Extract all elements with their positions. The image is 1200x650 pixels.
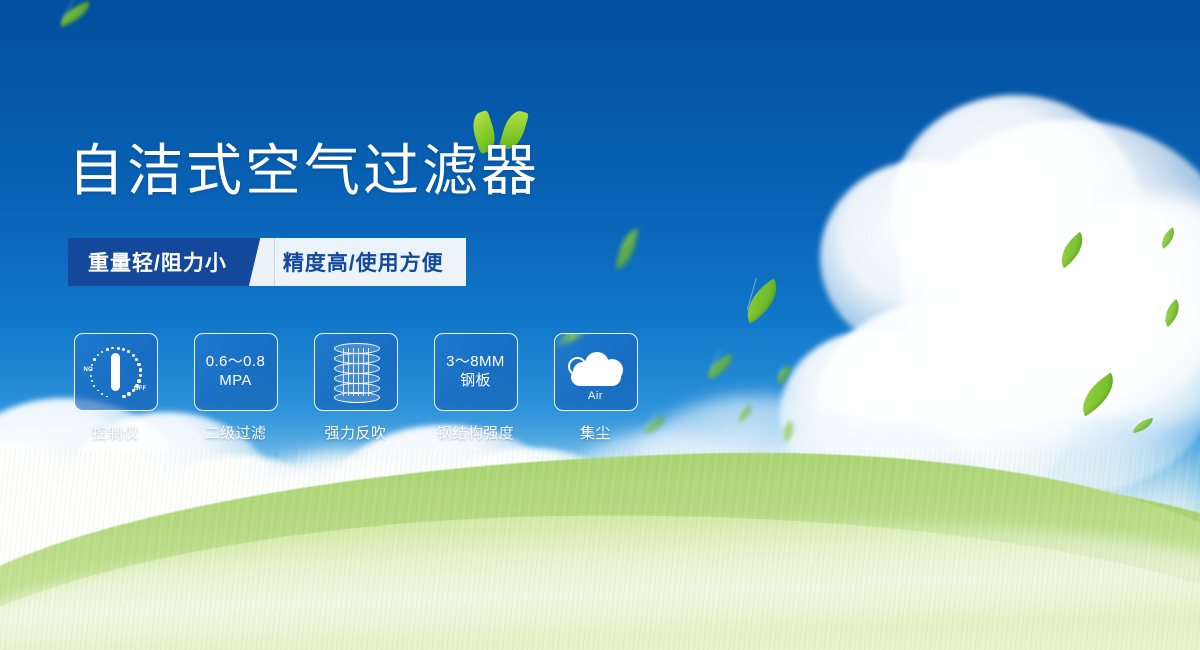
floating-leaf bbox=[1156, 227, 1179, 248]
floating-leaf bbox=[1158, 299, 1187, 327]
dial-dot bbox=[106, 396, 108, 398]
pressure-text-icon: 0.6～0.8 MPA bbox=[206, 353, 266, 391]
control-dial-icon: NO OFF bbox=[84, 342, 148, 402]
tagline-bar: 重量轻/阻力小 精度高/使用方便 bbox=[68, 238, 466, 286]
cloud-puff bbox=[820, 160, 1030, 355]
dial-dot bbox=[93, 358, 95, 360]
steel-line-1: 3～8MM bbox=[446, 353, 505, 372]
feature-caption: 强力反吹 bbox=[324, 422, 386, 443]
feature-caption: 二级过滤 bbox=[204, 422, 266, 443]
dial-dot bbox=[127, 392, 131, 396]
tagline-left: 重量轻/阻力小 bbox=[68, 238, 249, 286]
dial-dot bbox=[93, 385, 95, 387]
cloud-puff bbox=[900, 120, 1200, 420]
floating-leaf bbox=[642, 415, 668, 433]
dial-dot bbox=[135, 384, 139, 388]
feature-item-steel[interactable]: 3～8MM 钢板 钢结构强度 bbox=[428, 333, 523, 443]
air-cloud-icon: Air bbox=[565, 346, 627, 398]
filter-coil-icon bbox=[332, 343, 380, 401]
dial-dot bbox=[139, 368, 142, 371]
feature-caption: 控制仪 bbox=[92, 422, 139, 443]
pressure-line-2: MPA bbox=[206, 372, 266, 391]
dial-dot bbox=[137, 379, 140, 382]
feature-icon-box: 3～8MM 钢板 bbox=[434, 333, 518, 411]
grass-field bbox=[0, 450, 1200, 650]
dial-pointer bbox=[111, 353, 120, 391]
dial-dot bbox=[122, 395, 126, 399]
feature-icon-box: NO OFF bbox=[74, 333, 158, 411]
dial-dot bbox=[101, 393, 103, 395]
feature-item-control[interactable]: NO OFF 控制仪 bbox=[68, 333, 163, 443]
dial-dot bbox=[135, 358, 138, 361]
feature-icon-box: Air bbox=[554, 333, 638, 411]
feature-list: NO OFF 控制仪 0.6～0.8 MPA 二级过滤 bbox=[68, 333, 643, 443]
dial-dot bbox=[139, 374, 142, 377]
dial-dot bbox=[97, 354, 99, 356]
cloud-puff bbox=[890, 95, 1140, 325]
dial-dot bbox=[106, 348, 109, 351]
feature-caption: 钢结构强度 bbox=[437, 422, 515, 443]
dial-dot bbox=[117, 347, 120, 350]
feature-icon-box bbox=[314, 333, 398, 411]
feature-item-pressure[interactable]: 0.6～0.8 MPA 二级过滤 bbox=[188, 333, 283, 443]
floating-leaf bbox=[777, 420, 800, 444]
air-label: Air bbox=[565, 390, 627, 402]
dial-dot bbox=[91, 380, 93, 382]
floating-leaf bbox=[56, 1, 93, 27]
feature-icon-box: 0.6～0.8 MPA bbox=[194, 333, 278, 411]
feature-caption: 集尘 bbox=[580, 422, 611, 443]
dial-dot bbox=[111, 347, 114, 350]
tagline-divider bbox=[249, 238, 275, 286]
floating-leaf bbox=[1073, 373, 1124, 417]
dial-dot bbox=[137, 363, 140, 366]
dial-dot bbox=[101, 351, 103, 353]
dial-dot bbox=[90, 369, 92, 371]
dial-dot bbox=[91, 364, 93, 366]
page-title: 自洁式空气过滤器 bbox=[68, 143, 540, 199]
floating-leaf bbox=[736, 278, 787, 323]
coil-ring bbox=[334, 392, 380, 403]
steel-plate-text-icon: 3～8MM 钢板 bbox=[446, 353, 505, 391]
floating-leaf bbox=[1131, 418, 1155, 433]
tagline-right: 精度高/使用方便 bbox=[275, 238, 466, 286]
dial-dot bbox=[127, 350, 130, 353]
floating-leaf bbox=[703, 353, 737, 379]
pressure-line-1: 0.6～0.8 bbox=[206, 353, 266, 372]
dial-dot bbox=[122, 348, 125, 351]
dial-dot bbox=[132, 354, 135, 357]
grass-highlight-texture bbox=[0, 450, 1200, 650]
feature-item-dust[interactable]: Air 集尘 bbox=[548, 333, 643, 443]
steel-line-2: 钢板 bbox=[446, 372, 505, 391]
floating-leaf bbox=[734, 404, 755, 422]
cloud-base bbox=[571, 368, 621, 386]
dial-dot bbox=[97, 390, 99, 392]
promo-banner: 自洁式空气过滤器 重量轻/阻力小 精度高/使用方便 NO OFF 控制仪 0.6… bbox=[0, 0, 1200, 650]
floating-leaf bbox=[1052, 232, 1091, 268]
floating-leaf bbox=[773, 365, 795, 385]
dial-dot bbox=[90, 375, 92, 377]
floating-leaf bbox=[616, 227, 638, 271]
feature-item-blowback[interactable]: 强力反吹 bbox=[308, 333, 403, 443]
